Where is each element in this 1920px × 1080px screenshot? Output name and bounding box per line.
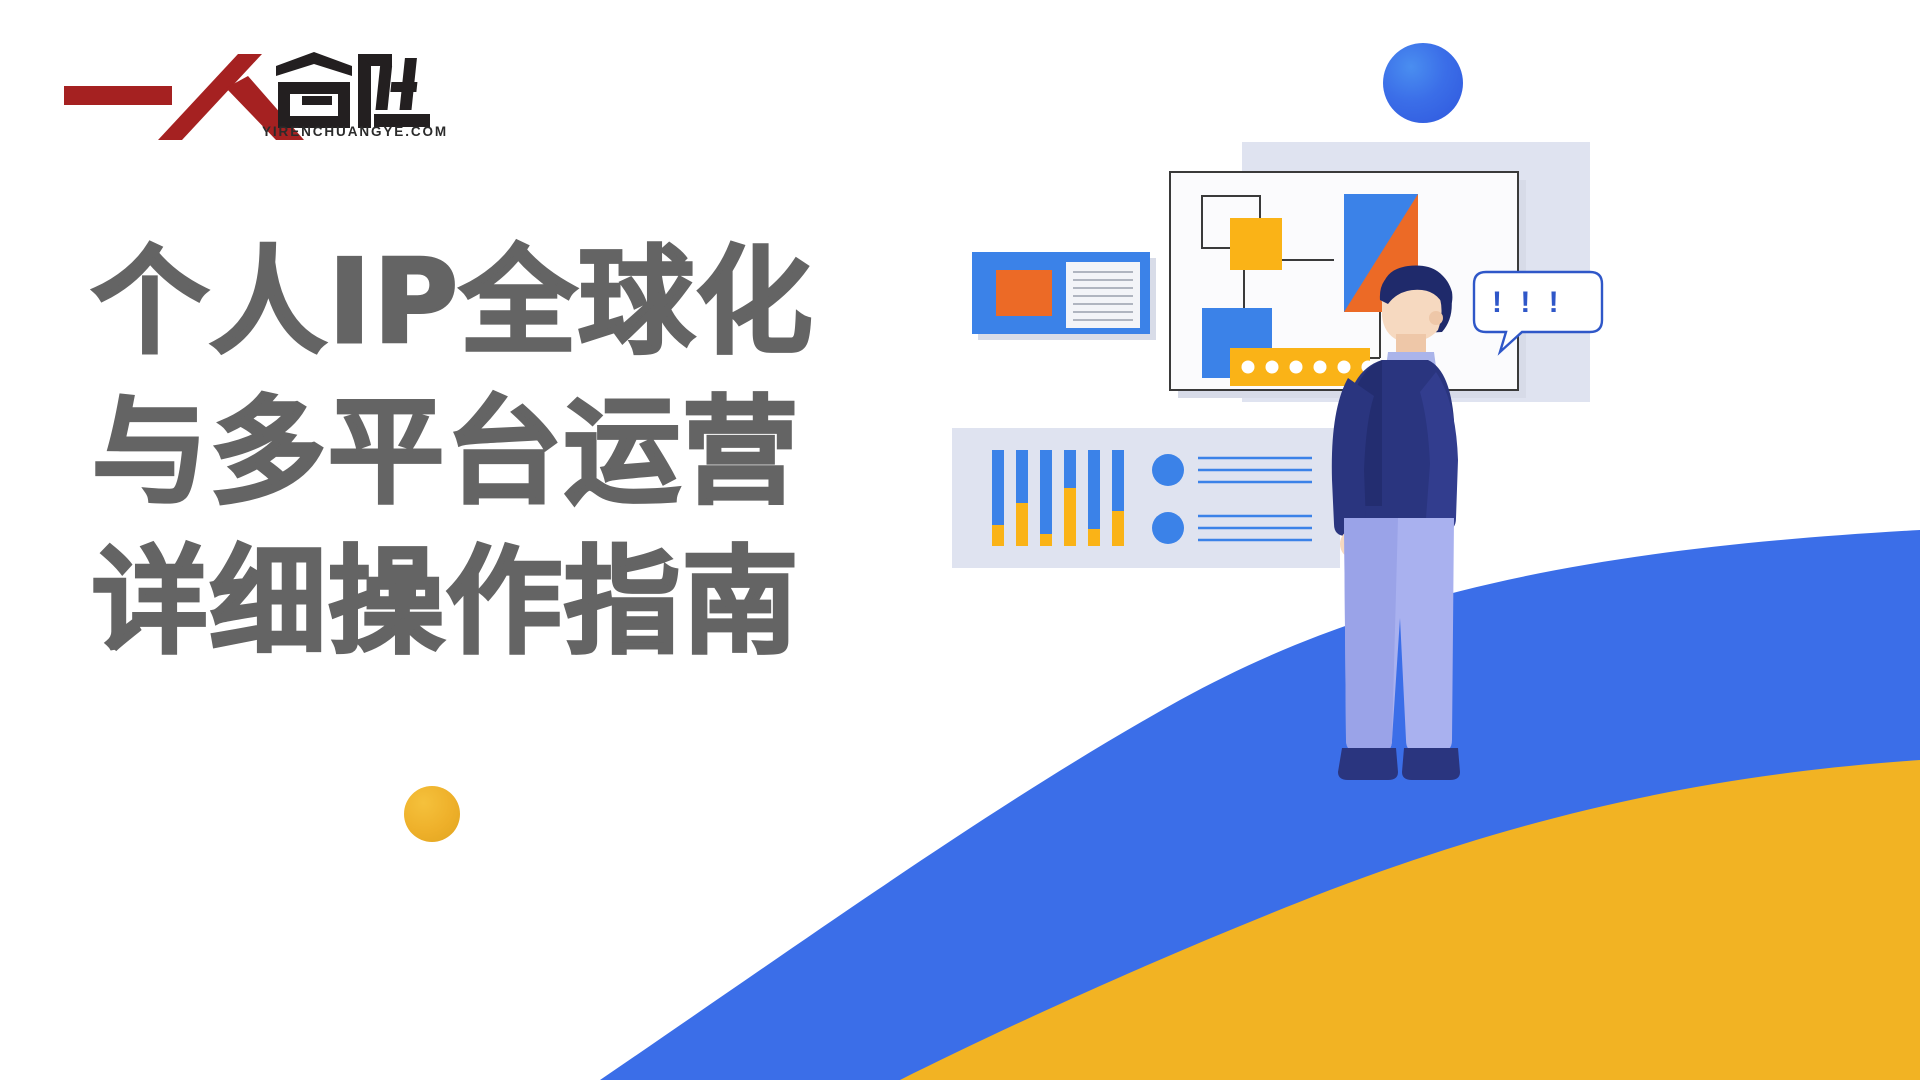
- person-trousers-shade: [1344, 518, 1398, 752]
- blue-card-doc-lines: [1073, 272, 1133, 320]
- person-shoe-right: [1402, 748, 1460, 780]
- stats-panel: [952, 428, 1340, 568]
- title-line-1: 个人IP全球化: [92, 228, 912, 378]
- page-title: 个人IP全球化 与多平台运营 详细操作指南: [92, 228, 912, 678]
- whiteboard-dot-bar: [1230, 348, 1375, 386]
- logo-char-ye: [374, 58, 430, 127]
- decorative-yellow-circle: [404, 786, 460, 842]
- person-shoe-left: [1338, 748, 1398, 780]
- title-line-2: 与多平台运营: [92, 378, 912, 528]
- blue-info-card: [972, 252, 1156, 340]
- whiteboard-yellow-square: [1230, 218, 1282, 270]
- speech-bubble-text: ! ! !: [1492, 286, 1564, 320]
- title-line-3: 详细操作指南: [92, 528, 912, 678]
- poster-canvas: YIRENCHUANGYE.COM 个人IP全球化 与多平台运营 详细操作指南: [0, 0, 1920, 1080]
- decorative-blue-circle: [1383, 43, 1463, 123]
- person-ear: [1429, 311, 1443, 325]
- logo-stroke-yi: [64, 86, 172, 105]
- brand-tagline: YIRENCHUANGYE.COM: [262, 124, 448, 139]
- hero-illustration: [930, 120, 1920, 940]
